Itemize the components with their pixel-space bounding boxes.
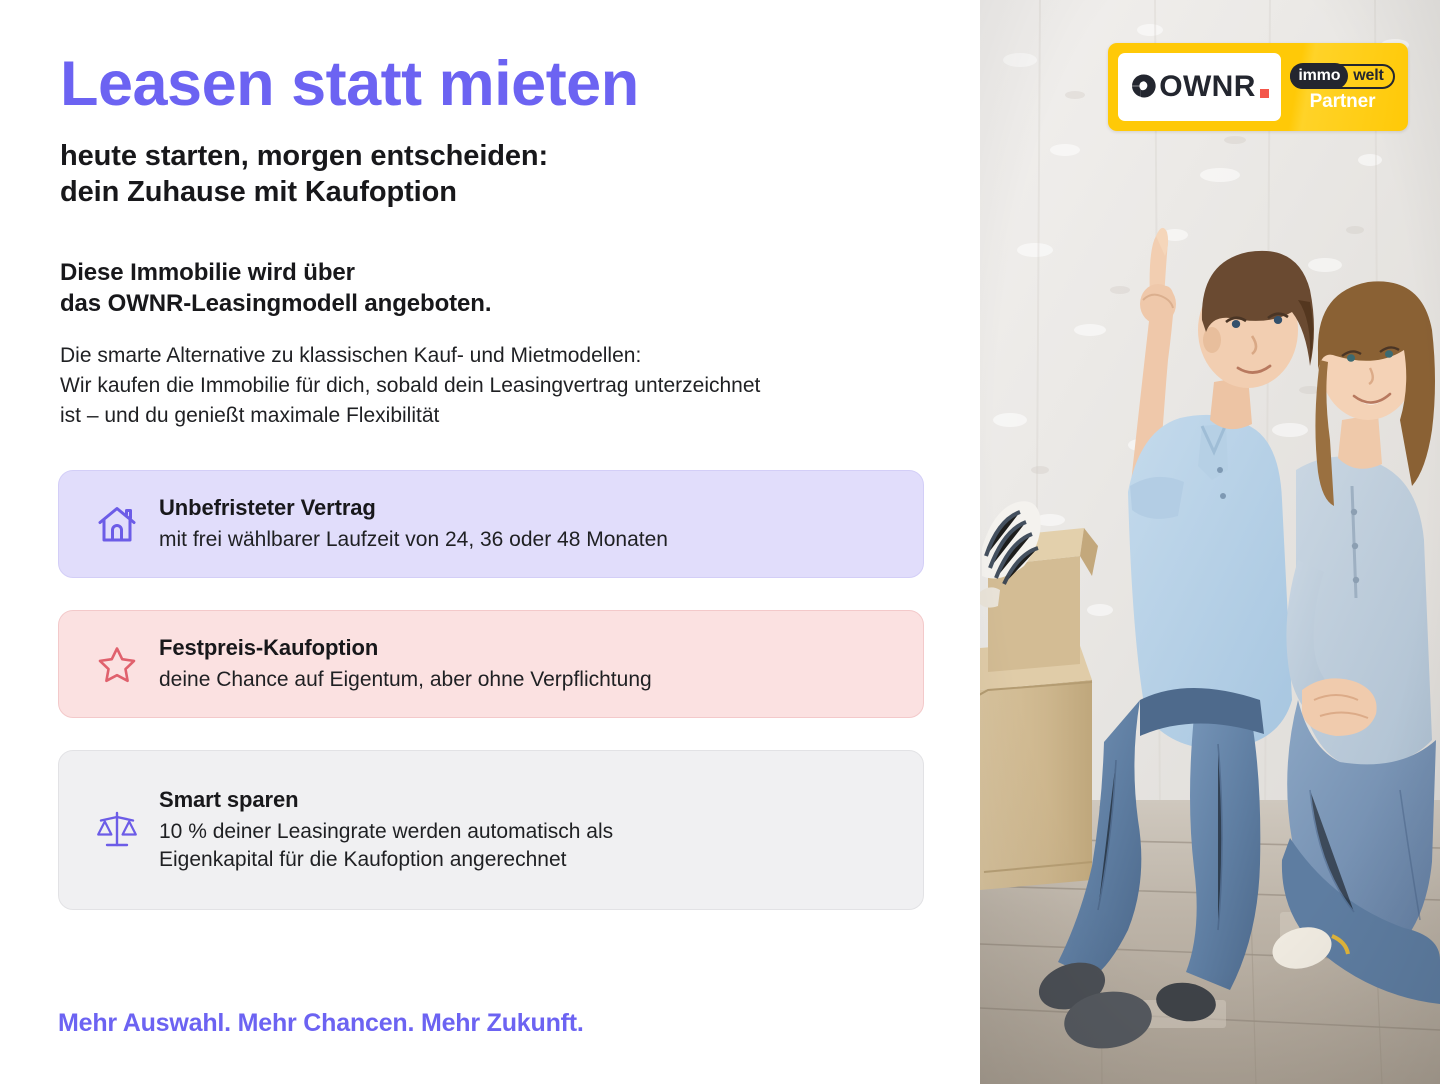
page-title: Leasen statt mieten	[60, 52, 940, 118]
feature-card-text: Unbefristeter Vertrag mit frei wählbarer…	[159, 495, 897, 554]
immowelt-logo: immo welt	[1290, 64, 1394, 89]
ownr-logo: OWNR	[1118, 53, 1281, 121]
ownr-dot-icon	[1260, 89, 1269, 98]
feature-card-title: Smart sparen	[159, 787, 897, 814]
body-line-3: ist – und du genießt maximale Flexibilit…	[60, 401, 940, 431]
ownr-wordmark: OWNR	[1130, 72, 1269, 102]
subheadline-line-1: heute starten, morgen entscheiden:	[60, 138, 940, 175]
house-icon	[85, 503, 149, 545]
feature-card-contract: Unbefristeter Vertrag mit frei wählbarer…	[58, 470, 924, 578]
feature-card-description: mit frei wählbarer Laufzeit von 24, 36 o…	[159, 526, 897, 554]
hero-photo: OWNR immo welt Partner	[980, 0, 1440, 1084]
footer-tagline: Mehr Auswahl. Mehr Chancen. Mehr Zukunft…	[58, 1009, 584, 1038]
feature-card-description: deine Chance auf Eigentum, aber ohne Ver…	[159, 666, 897, 694]
immowelt-partner-block: immo welt Partner	[1281, 64, 1398, 111]
feature-card-purchase-option: Festpreis-Kaufoption deine Chance auf Ei…	[58, 610, 924, 718]
subheadline-line-2: dein Zuhause mit Kaufoption	[60, 174, 940, 211]
feature-card-list: Unbefristeter Vertrag mit frei wählbarer…	[58, 470, 924, 910]
partner-label: Partner	[1310, 92, 1376, 111]
star-icon	[85, 643, 149, 685]
ownr-o-icon	[1130, 72, 1158, 102]
body-line-1: Die smarte Alternative zu klassischen Ka…	[60, 341, 940, 371]
feature-card-text: Smart sparen 10 % deiner Leasingrate wer…	[159, 787, 897, 874]
feature-card-description-line-1: 10 % deiner Leasingrate werden automatis…	[159, 818, 897, 846]
content-column: Leasen statt mieten heute starten, morge…	[0, 0, 980, 1084]
feature-card-description-line-2: Eigenkapital für die Kaufoption angerech…	[159, 846, 897, 874]
feature-card-text: Festpreis-Kaufoption deine Chance auf Ei…	[159, 635, 897, 694]
lead-line-2: das OWNR-Leasingmodell angeboten.	[60, 288, 940, 319]
balance-scales-icon	[85, 808, 149, 852]
lead-line-1: Diese Immobilie wird über	[60, 257, 940, 288]
feature-card-title: Unbefristeter Vertrag	[159, 495, 897, 522]
body-paragraph: Die smarte Alternative zu klassischen Ka…	[60, 341, 940, 430]
subheadline: heute starten, morgen entscheiden: dein …	[60, 138, 940, 211]
feature-card-description-line-1: mit frei wählbarer Laufzeit von 24, 36 o…	[159, 526, 897, 554]
immowelt-welt-text: welt	[1348, 67, 1385, 85]
ownr-brand-text: OWNR	[1159, 72, 1256, 102]
promo-page: Leasen statt mieten heute starten, morge…	[0, 0, 1440, 1084]
partner-badge: OWNR immo welt Partner	[1108, 43, 1408, 131]
feature-card-description: 10 % deiner Leasingrate werden automatis…	[159, 818, 897, 874]
hero-photo-illustration	[980, 0, 1440, 1084]
feature-card-title: Festpreis-Kaufoption	[159, 635, 897, 662]
immowelt-immo-text: immo	[1290, 63, 1348, 89]
body-line-2: Wir kaufen die Immobilie für dich, sobal…	[60, 371, 940, 401]
feature-card-description-line-1: deine Chance auf Eigentum, aber ohne Ver…	[159, 666, 897, 694]
lead-paragraph: Diese Immobilie wird über das OWNR-Leasi…	[60, 257, 940, 319]
feature-card-savings: Smart sparen 10 % deiner Leasingrate wer…	[58, 750, 924, 910]
